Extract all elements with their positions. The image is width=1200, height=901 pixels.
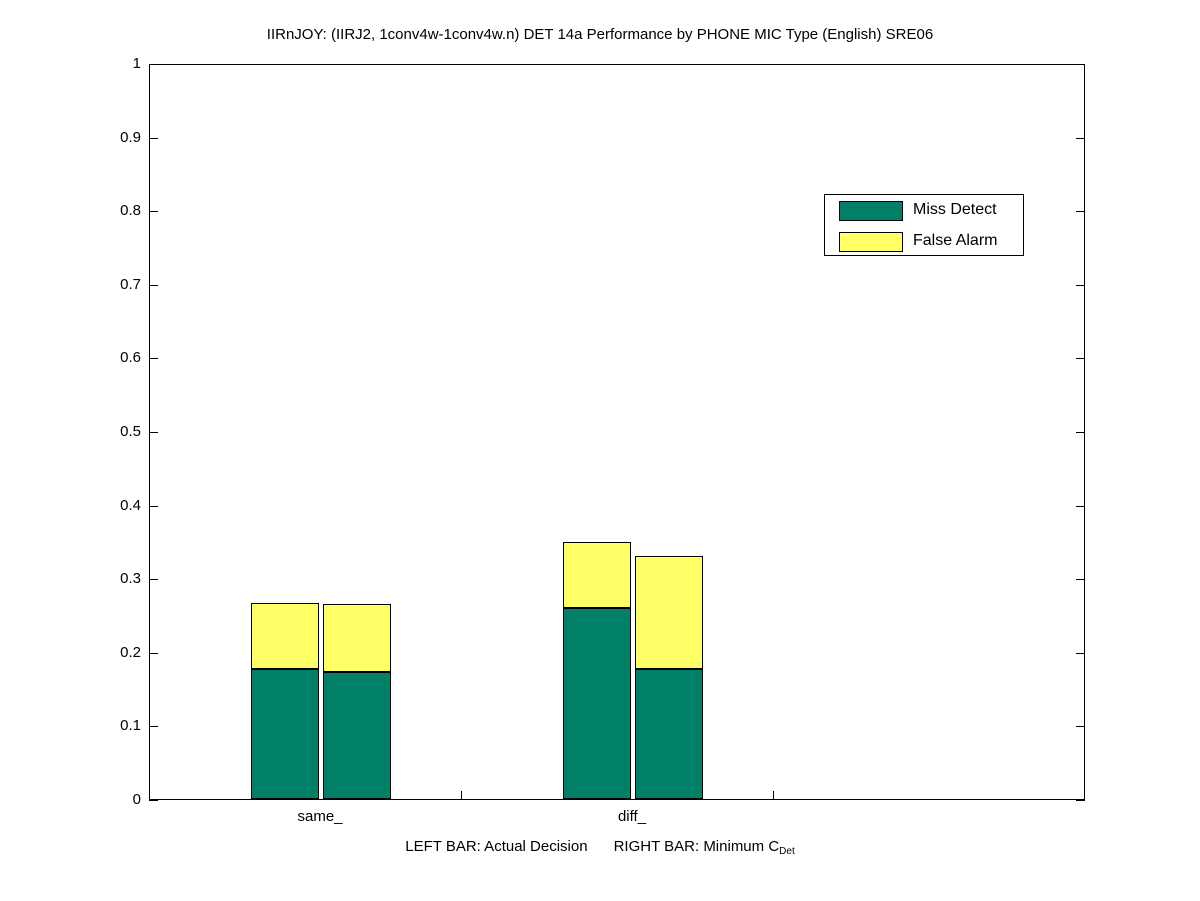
y-axis-tick (149, 579, 158, 580)
bar-segment-false-alarm (563, 542, 631, 608)
legend-label-miss-detect: Miss Detect (913, 199, 997, 221)
legend-entry-miss-detect: Miss Detect (825, 195, 1023, 226)
y-axis-tick-label: 0.9 (120, 130, 141, 145)
bar-segment-miss-detect (323, 672, 391, 799)
legend-swatch-miss-detect (839, 201, 903, 221)
x-axis-caption-right: RIGHT BAR: Minimum CDet (614, 838, 795, 855)
y-axis-tick-label: 0.6 (120, 350, 141, 365)
y-axis-tick-label: 0.1 (120, 718, 141, 733)
y-axis-tick (149, 653, 158, 654)
y-axis-tick-right (1076, 432, 1085, 433)
y-axis-tick-right (1076, 64, 1085, 65)
figure-canvas: IIRnJOY: (IIRJ2, 1conv4w-1conv4w.n) DET … (0, 0, 1200, 901)
bar-segment-miss-detect (635, 669, 703, 799)
x-axis-tick-label: diff_ (572, 808, 692, 825)
legend-label-false-alarm: False Alarm (913, 230, 997, 252)
y-axis-tick-right (1076, 506, 1085, 507)
y-axis-tick (149, 138, 158, 139)
bars-layer (150, 65, 1084, 799)
y-axis-tick (149, 64, 158, 65)
plot-axes (149, 64, 1085, 800)
bar-diff-actual-decision (563, 542, 631, 799)
y-axis-tick-label: 0 (133, 792, 141, 807)
legend-swatch-false-alarm (839, 232, 903, 252)
x-axis-tick-label: same_ (260, 808, 380, 825)
chart-legend: Miss Detect False Alarm (824, 194, 1024, 256)
y-axis-tick-label: 0.3 (120, 571, 141, 586)
x-axis-caption-right-text: RIGHT BAR: Minimum C (614, 838, 780, 855)
y-axis-tick-label: 0.4 (120, 498, 141, 513)
y-axis-tick-right (1076, 138, 1085, 139)
y-axis-tick-right (1076, 358, 1085, 359)
y-axis-tick (149, 285, 158, 286)
chart-title: IIRnJOY: (IIRJ2, 1conv4w-1conv4w.n) DET … (0, 26, 1200, 43)
bar-same-actual-decision (251, 603, 319, 800)
y-axis-tick-right (1076, 653, 1085, 654)
y-axis-tick-label: 0.7 (120, 277, 141, 292)
y-axis-tick-label: 0.2 (120, 645, 141, 660)
y-axis-tick-label: 0.8 (120, 203, 141, 218)
bar-segment-false-alarm (251, 603, 319, 670)
y-axis-tick (149, 506, 158, 507)
x-axis-caption-left: LEFT BAR: Actual Decision (405, 838, 587, 855)
bar-segment-miss-detect (563, 608, 631, 799)
y-axis-tick-right (1076, 726, 1085, 727)
y-axis-tick (149, 432, 158, 433)
bar-segment-miss-detect (251, 669, 319, 799)
bar-same-minimum-cdet (323, 604, 391, 799)
bar-segment-false-alarm (635, 556, 703, 669)
x-axis-tick (461, 791, 462, 800)
y-axis-tick (149, 800, 158, 801)
bar-segment-false-alarm (323, 604, 391, 672)
y-axis-tick-right (1076, 800, 1085, 801)
x-axis-caption: LEFT BAR: Actual DecisionRIGHT BAR: Mini… (0, 838, 1200, 857)
y-axis-tick (149, 358, 158, 359)
bar-diff-minimum-cdet (635, 556, 703, 799)
y-axis-tick (149, 726, 158, 727)
y-axis-tick-label: 1 (133, 56, 141, 71)
x-axis-caption-subscript: Det (779, 846, 795, 857)
y-axis-tick-right (1076, 285, 1085, 286)
y-axis-tick-right (1076, 211, 1085, 212)
y-axis-tick (149, 211, 158, 212)
y-axis-tick-label: 0.5 (120, 424, 141, 439)
legend-entry-false-alarm: False Alarm (825, 226, 1023, 257)
x-axis-tick (773, 791, 774, 800)
y-axis-tick-right (1076, 579, 1085, 580)
